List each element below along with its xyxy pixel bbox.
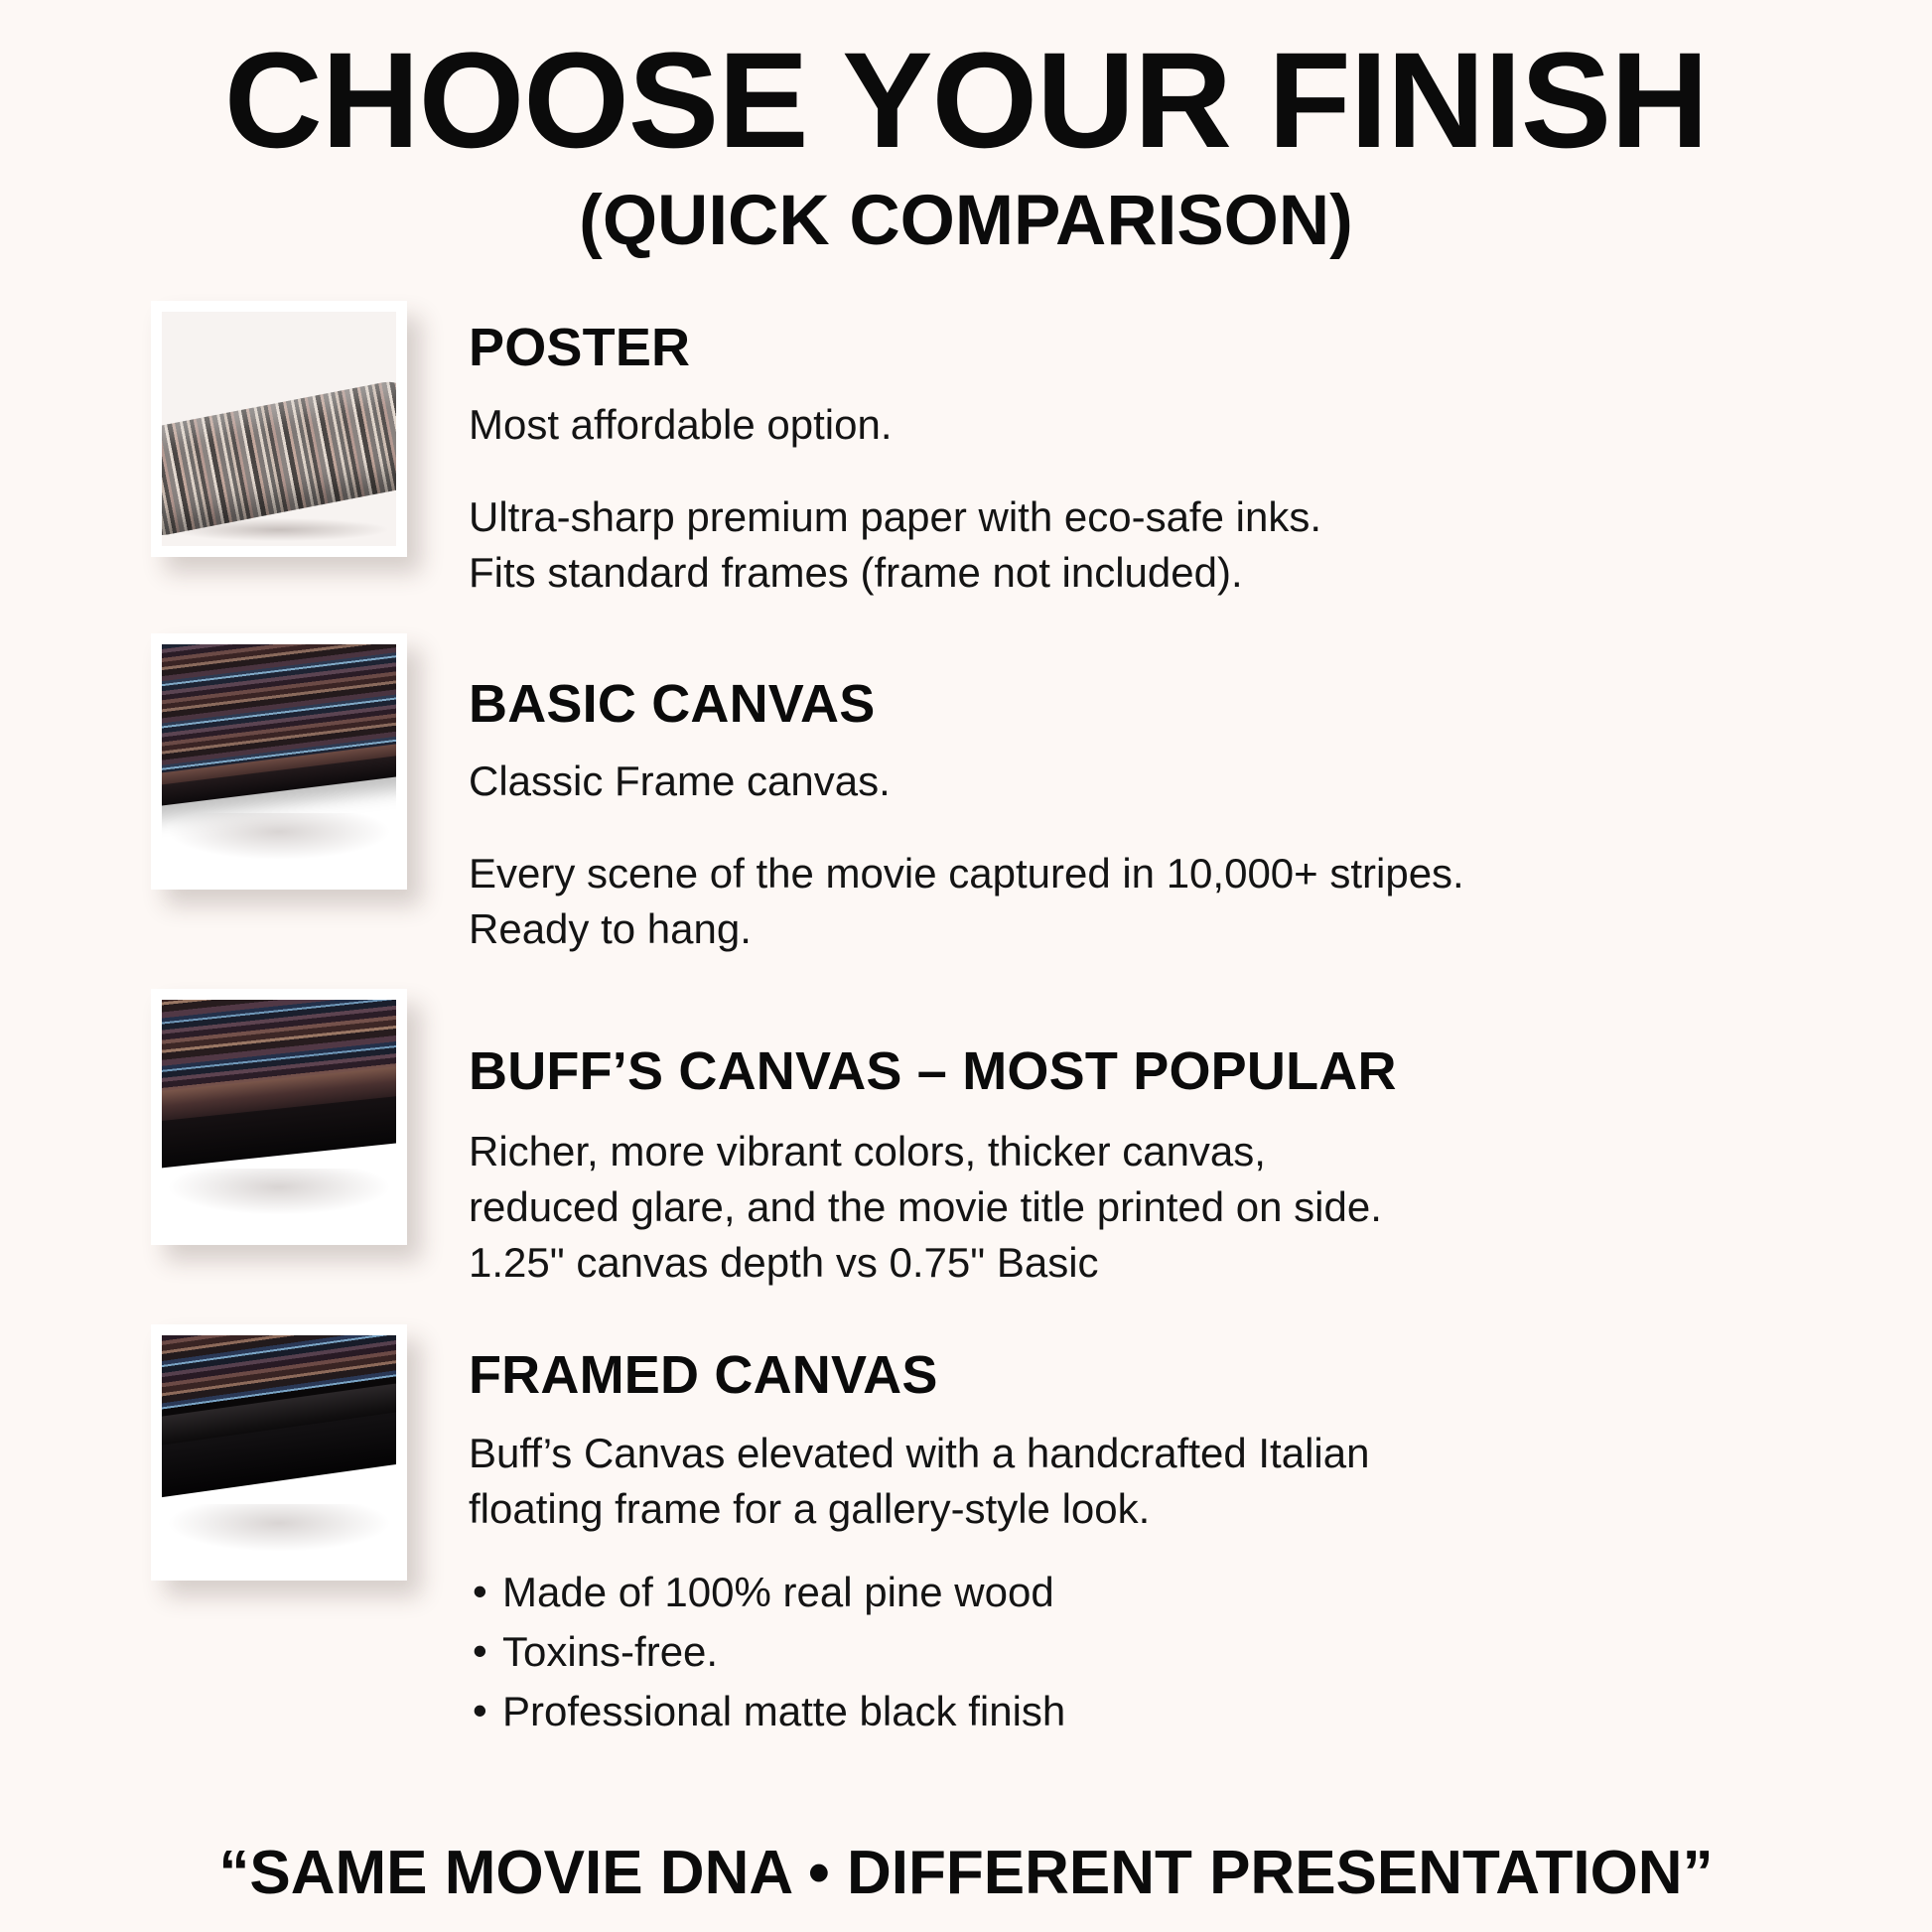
poster-body-line-2: Fits standard frames (frame not included… (469, 545, 1853, 601)
framed-canvas-body-line-1: Buff’s Canvas elevated with a handcrafte… (469, 1426, 1853, 1481)
buffs-canvas-shadow (167, 1169, 392, 1215)
buffs-canvas-body: Richer, more vibrant colors, thicker can… (469, 1124, 1853, 1292)
basic-canvas-thumbnail[interactable] (151, 633, 407, 890)
buffs-canvas-thumbnail[interactable] (151, 989, 407, 1245)
framed-canvas-thumbnail-wrap (151, 1324, 469, 1581)
framed-canvas-body: Buff’s Canvas elevated with a handcrafte… (469, 1426, 1853, 1538)
buffs-canvas-title: BUFF’S CANVAS – MOST POPULAR (469, 1042, 1853, 1101)
buffs-canvas-photo (162, 1000, 396, 1234)
page-title: CHOOSE YOUR FINISH (0, 30, 1932, 173)
buffs-canvas-body-line-2: reduced glare, and the movie title print… (469, 1179, 1853, 1235)
poster-title: POSTER (469, 319, 1853, 377)
buffs-canvas-text: BUFF’S CANVAS – MOST POPULAR Richer, mor… (469, 989, 1932, 1291)
basic-canvas-title: BASIC CANVAS (469, 675, 1853, 734)
buffs-canvas-body-line-1: Richer, more vibrant colors, thicker can… (469, 1124, 1853, 1179)
list-item: Toxins-free. (469, 1622, 1853, 1682)
poster-photo (162, 312, 396, 546)
finish-option-poster[interactable]: POSTER Most affordable option. Ultra-sha… (0, 301, 1932, 602)
finish-option-basic-canvas[interactable]: BASIC CANVAS Classic Frame canvas. Every… (0, 633, 1932, 958)
basic-canvas-lede: Classic Frame canvas. (469, 754, 1853, 810)
poster-thumbnail-wrap (151, 301, 469, 557)
basic-canvas-thumbnail-wrap (151, 633, 469, 890)
finish-option-framed-canvas[interactable]: FRAMED CANVAS Buff’s Canvas elevated wit… (0, 1324, 1932, 1740)
comparison-infographic: CHOOSE YOUR FINISH (QUICK COMPARISON) P (0, 0, 1932, 1932)
framed-canvas-body-line-2: floating frame for a gallery-style look. (469, 1481, 1853, 1537)
basic-canvas-photo (162, 644, 396, 879)
basic-canvas-body-line-2: Ready to hang. (469, 901, 1853, 957)
list-item: Made of 100% real pine wood (469, 1563, 1853, 1622)
header: CHOOSE YOUR FINISH (QUICK COMPARISON) (0, 0, 1932, 263)
footer-tagline: “SAME MOVIE DNA • DIFFERENT PRESENTATION… (0, 1838, 1932, 1908)
buffs-canvas-thumbnail-wrap (151, 989, 469, 1245)
framed-canvas-title: FRAMED CANVAS (469, 1346, 1853, 1405)
poster-text: POSTER Most affordable option. Ultra-sha… (469, 301, 1932, 602)
framed-canvas-thumbnail[interactable] (151, 1324, 407, 1581)
list-item: Professional matte black finish (469, 1682, 1853, 1741)
framed-canvas-text: FRAMED CANVAS Buff’s Canvas elevated wit… (469, 1324, 1932, 1740)
finish-options-list: POSTER Most affordable option. Ultra-sha… (0, 301, 1932, 1740)
poster-body-line-1: Ultra-sharp premium paper with eco-safe … (469, 489, 1853, 545)
poster-lede: Most affordable option. (469, 397, 1853, 454)
framed-canvas-shadow (167, 1504, 392, 1551)
poster-thumbnail[interactable] (151, 301, 407, 557)
basic-canvas-body-line-1: Every scene of the movie captured in 10,… (469, 846, 1853, 901)
basic-canvas-shadow (167, 813, 392, 860)
framed-canvas-bullets: Made of 100% real pine wood Toxins-free.… (469, 1563, 1853, 1740)
basic-canvas-text: BASIC CANVAS Classic Frame canvas. Every… (469, 633, 1932, 958)
poster-body: Ultra-sharp premium paper with eco-safe … (469, 489, 1853, 602)
finish-option-buffs-canvas[interactable]: BUFF’S CANVAS – MOST POPULAR Richer, mor… (0, 989, 1932, 1291)
page-subtitle: (QUICK COMPARISON) (0, 179, 1932, 263)
buffs-canvas-body-line-3: 1.25" canvas depth vs 0.75" Basic (469, 1235, 1853, 1291)
framed-canvas-photo (162, 1335, 396, 1570)
basic-canvas-body: Every scene of the movie captured in 10,… (469, 846, 1853, 958)
